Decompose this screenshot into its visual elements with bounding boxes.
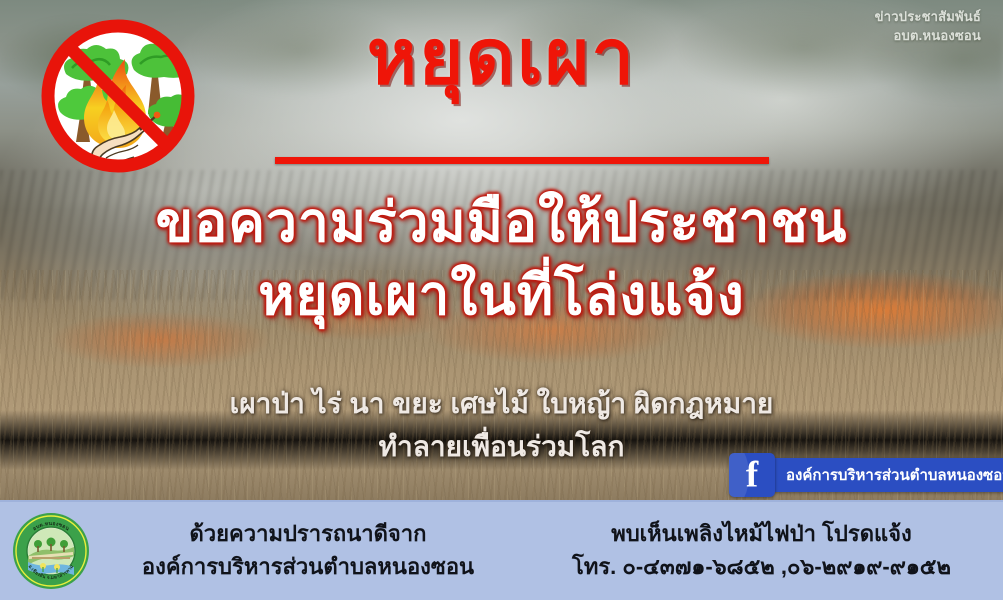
footer-left-line-2: องค์การบริหารส่วนตำบลหนองซอน: [96, 551, 520, 584]
appeal-line-1: ขอความร่วมมือให้ประชาชน: [0, 186, 1003, 259]
announcement-caption: ข่าวประชาสัมพันธ์ อบต.หนองซอน: [875, 8, 981, 46]
municipality-seal: อบต.หนองซอน อ.เชียงยืน จ.มหาสารคาม: [12, 512, 90, 590]
footer-left-text: ด้วยความปรารถนาดีจาก องค์การบริหารส่วนตำ…: [90, 518, 520, 583]
footer-right-line-1: พบเห็นเพลิงไหม้ไฟป่า โปรดแจ้ง: [520, 518, 1003, 551]
facebook-page-name[interactable]: องค์การบริหารส่วนตำบลหนองซอน: [772, 458, 1003, 492]
facebook-icon-glyph: f: [729, 457, 775, 494]
poster-root: ข่าวประชาสัมพันธ์ อบต.หนองซอน: [0, 0, 1003, 600]
footer-phone-numbers: โทร. ๐-๔๓๗๑-๖๘๕๒ ,๐๖-๒๙๑๙-๙๑๕๒: [520, 551, 1003, 584]
footer-left-line-1: ด้วยความปรารถนาดีจาก: [96, 518, 520, 551]
red-divider-rule: [275, 157, 769, 164]
footer-bar: อบต.หนองซอน อ.เชียงยืน จ.มหาสารคาม ด้วยค…: [0, 500, 1003, 600]
announcement-line-2: อบต.หนองซอน: [875, 27, 981, 46]
no-open-burning-icon: [22, 16, 214, 176]
facebook-icon[interactable]: f: [729, 453, 775, 497]
footer-right-text: พบเห็นเพลิงไหม้ไฟป่า โปรดแจ้ง โทร. ๐-๔๓๗…: [520, 518, 1003, 583]
appeal-line-2: หยุดเผาในที่โล่งแจ้ง: [0, 259, 1003, 332]
subtitle-line-1: เผาป่า ไร่ นา ขยะ เศษไม้ ใบหญ้า ผิดกฎหมา…: [0, 382, 1003, 425]
announcement-line-1: ข่าวประชาสัมพันธ์: [875, 8, 981, 27]
appeal-block: ขอความร่วมมือให้ประชาชน หยุดเผาในที่โล่ง…: [0, 186, 1003, 331]
facebook-badge[interactable]: f องค์การบริหารส่วนตำบลหนองซอน: [729, 453, 1003, 497]
